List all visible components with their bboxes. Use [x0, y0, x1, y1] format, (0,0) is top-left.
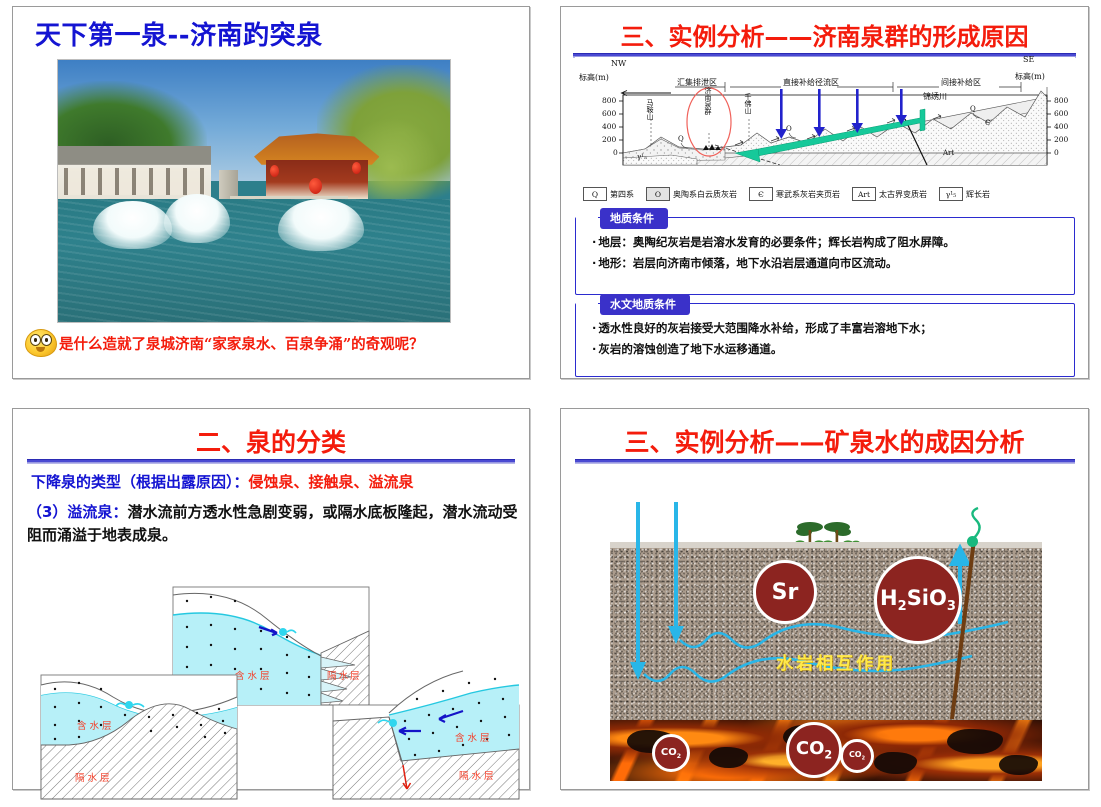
tick-left-800: 800: [602, 96, 616, 105]
spring-photo: [57, 59, 451, 323]
geological-conditions-box: 地质条件 地层：奥陶纪灰岩是岩溶水发育的必要条件；辉长岩构成了阻水屏障。 地形：…: [575, 217, 1075, 295]
photo-lantern-center: [309, 178, 322, 194]
cross-section-legend: Q 第四系 O 奥陶系白云质灰岩 Є 寒武系灰岩夹页岩 Art 太古界变质岩 γ…: [583, 185, 1073, 203]
circle-h2sio3: H2SiO3: [874, 556, 962, 644]
tick-left-0: 0: [613, 148, 618, 157]
water-rock-interaction-label: 水岩相互作用: [776, 649, 896, 674]
slide-4-frame: 三、实例分析——矿泉水的成因分析: [560, 408, 1089, 790]
direction-se: SE: [1023, 55, 1034, 64]
list-item: 地层：奥陶纪灰岩是岩溶水发育的必要条件；辉长岩构成了阻水屏障。: [592, 232, 1074, 253]
hydrogeological-conditions-box: 水文地质条件 透水性良好的灰岩接受大范围降水补给，形成了丰富岩溶地下水； 灰岩的…: [575, 303, 1075, 377]
list-item: 灰岩的溶蚀创造了地下水运移通道。: [592, 339, 1074, 360]
box-tab-geological: 地质条件: [600, 208, 668, 229]
zone-direct-recharge: 直接补给径流区: [783, 77, 839, 88]
left-axis-label: 标高(m): [579, 72, 609, 83]
legend-symbol-o: O: [646, 187, 670, 201]
circle-co2-small-left: CO2: [652, 734, 690, 772]
spring-types-lead: 下降泉的类型（根据出露原因）：侵蚀泉、接触泉、溢流泉: [31, 471, 414, 492]
emoji-mouth: [36, 347, 45, 352]
legend-symbol-cambrian: Є: [749, 187, 773, 201]
circle-sr: Sr: [753, 560, 817, 624]
feature-jinan-spring-group: 济南泉群: [704, 87, 711, 115]
circle-co2-large: CO2: [786, 722, 842, 778]
slide-2-frame: 三、实例分析——济南泉群的形成原因: [560, 6, 1089, 379]
slide-3: 二、泉的分类 下降泉的类型（根据出露原因）：侵蚀泉、接触泉、溢流泉 （3）溢流泉…: [0, 400, 550, 807]
slide-1-frame: 天下第一泉--济南趵突泉: [12, 6, 530, 379]
legend-text-cambrian: 寒武系灰岩夹页岩: [776, 189, 840, 200]
aquitard-label: 隔水层: [75, 772, 113, 784]
circle-co2-large-label: CO2: [796, 738, 832, 762]
tick-right-800: 800: [1054, 96, 1068, 105]
page-title: 二、泉的分类: [13, 423, 529, 459]
photo-spring-burst-3: [278, 199, 364, 251]
unit-mark-cambrian: Є: [985, 119, 990, 127]
unit-mark-art: Art: [943, 149, 954, 157]
tick-right-600: 600: [1054, 109, 1068, 118]
unit-mark-q-left: Q: [678, 135, 684, 143]
lead-types: 侵蚀泉、接触泉、溢流泉: [249, 473, 414, 491]
slide-4: 三、实例分析——矿泉水的成因分析: [550, 400, 1101, 807]
legend-text-q: 第四系: [610, 189, 634, 200]
unit-mark-q-right: Q: [970, 105, 976, 113]
aquitard-label: 隔水层: [459, 770, 497, 782]
title-divider: [27, 459, 515, 464]
legend-symbol-gabbro: γ¹₅: [939, 187, 963, 201]
mineral-water-genesis-scene: Sr H2SiO3 CO2 CO2 CO2 水岩相互作用: [610, 464, 1042, 781]
legend-text-o: 奥陶系白云质灰岩: [673, 189, 737, 200]
geologic-cross-section: NW 标高(m) SE 标高(m) 800 600 400 200 0 800 …: [575, 57, 1075, 182]
legend-text-gabbro: 辉长岩: [966, 189, 990, 200]
emoji-eye-left: [30, 334, 41, 346]
box-tab-hydrogeological: 水文地质条件: [600, 294, 690, 315]
slide-3-frame: 二、泉的分类 下降泉的类型（根据出露原因）：侵蚀泉、接触泉、溢流泉 （3）溢流泉…: [12, 408, 530, 790]
circle-sr-label: Sr: [772, 580, 799, 605]
tick-left-600: 600: [602, 109, 616, 118]
photo-spring-burst-1: [93, 201, 171, 248]
list-item: 透水性良好的灰岩接受大范围降水补给，形成了丰富岩溶地下水；: [592, 318, 1074, 339]
slide-grid: 天下第一泉--济南趵突泉: [0, 0, 1101, 807]
tick-right-0: 0: [1054, 148, 1059, 157]
circle-h2sio3-label: H2SiO3: [880, 586, 956, 614]
unit-mark-o-left: O: [786, 125, 792, 133]
tick-left-400: 400: [602, 122, 616, 131]
aquifer-label: 含水层: [77, 720, 115, 732]
slide-1-caption: 是什么造就了泉城济南“家家泉水、百泉争涌”的奇观呢？: [59, 333, 424, 354]
pane-separator: [549, 0, 550, 807]
overflow-spring-paragraph: （3）溢流泉：潜水流前方透水性急剧变弱，或隔水底板隆起，潜水流动受阻而涌溢于地表…: [27, 501, 527, 548]
tick-right-400: 400: [1054, 122, 1068, 131]
feature-maanshan: 马鞍山: [646, 99, 653, 120]
wellhead-hose-icon: [960, 506, 990, 540]
zone-indirect-recharge: 间接补给区: [941, 77, 981, 88]
aquifer-label: 含水层: [235, 670, 273, 682]
box-notch-1: [576, 217, 598, 219]
emoji-eye-right: [41, 334, 52, 346]
tick-right-200: 200: [1054, 135, 1068, 144]
page-title: 天下第一泉--济南趵突泉: [35, 15, 323, 52]
slide-2: 三、实例分析——济南泉群的形成原因: [550, 0, 1101, 400]
right-axis-label: 标高(m): [1015, 71, 1045, 82]
page-title: 三、实例分析——济南泉群的形成原因: [561, 17, 1088, 52]
legend-text-art: 太古界变质岩: [879, 189, 927, 200]
page-title: 三、实例分析——矿泉水的成因分析: [561, 423, 1088, 459]
direction-nw: NW: [611, 59, 626, 68]
slide-1: 天下第一泉--济南趵突泉: [0, 0, 550, 400]
circle-co2-small-left-label: CO2: [661, 747, 681, 760]
tick-left-200: 200: [602, 135, 616, 144]
infiltration-arrow-1: [630, 662, 646, 680]
photo-lantern-left: [270, 165, 279, 177]
overflow-spring-diagram-left: 含水层 隔水层: [39, 673, 239, 801]
aquifer-label: 含水层: [455, 732, 493, 744]
circle-co2-small-right-label: CO2: [849, 750, 865, 762]
feature-jinxiuchuan: 锦绣川: [923, 91, 947, 102]
lead-prefix: 下降泉的类型（根据出露原因）：: [31, 473, 249, 491]
circle-co2-small-right: CO2: [840, 739, 874, 773]
surprised-face-emoji: [25, 329, 57, 357]
list-item: 地形：岩层向济南市倾落，地下水沿岩层通道向市区流动。: [592, 253, 1074, 274]
legend-symbol-q: Q: [583, 187, 607, 201]
box-notch-2: [576, 303, 598, 305]
paragraph-label: （3）溢流泉：: [27, 503, 127, 521]
feature-qianfoshan: 千佛山: [744, 93, 751, 114]
legend-symbol-art: Art: [852, 187, 876, 201]
unit-mark-gabbro: γ¹₅: [637, 153, 647, 161]
overflow-spring-diagram-right: 含水层 隔水层: [331, 669, 521, 801]
